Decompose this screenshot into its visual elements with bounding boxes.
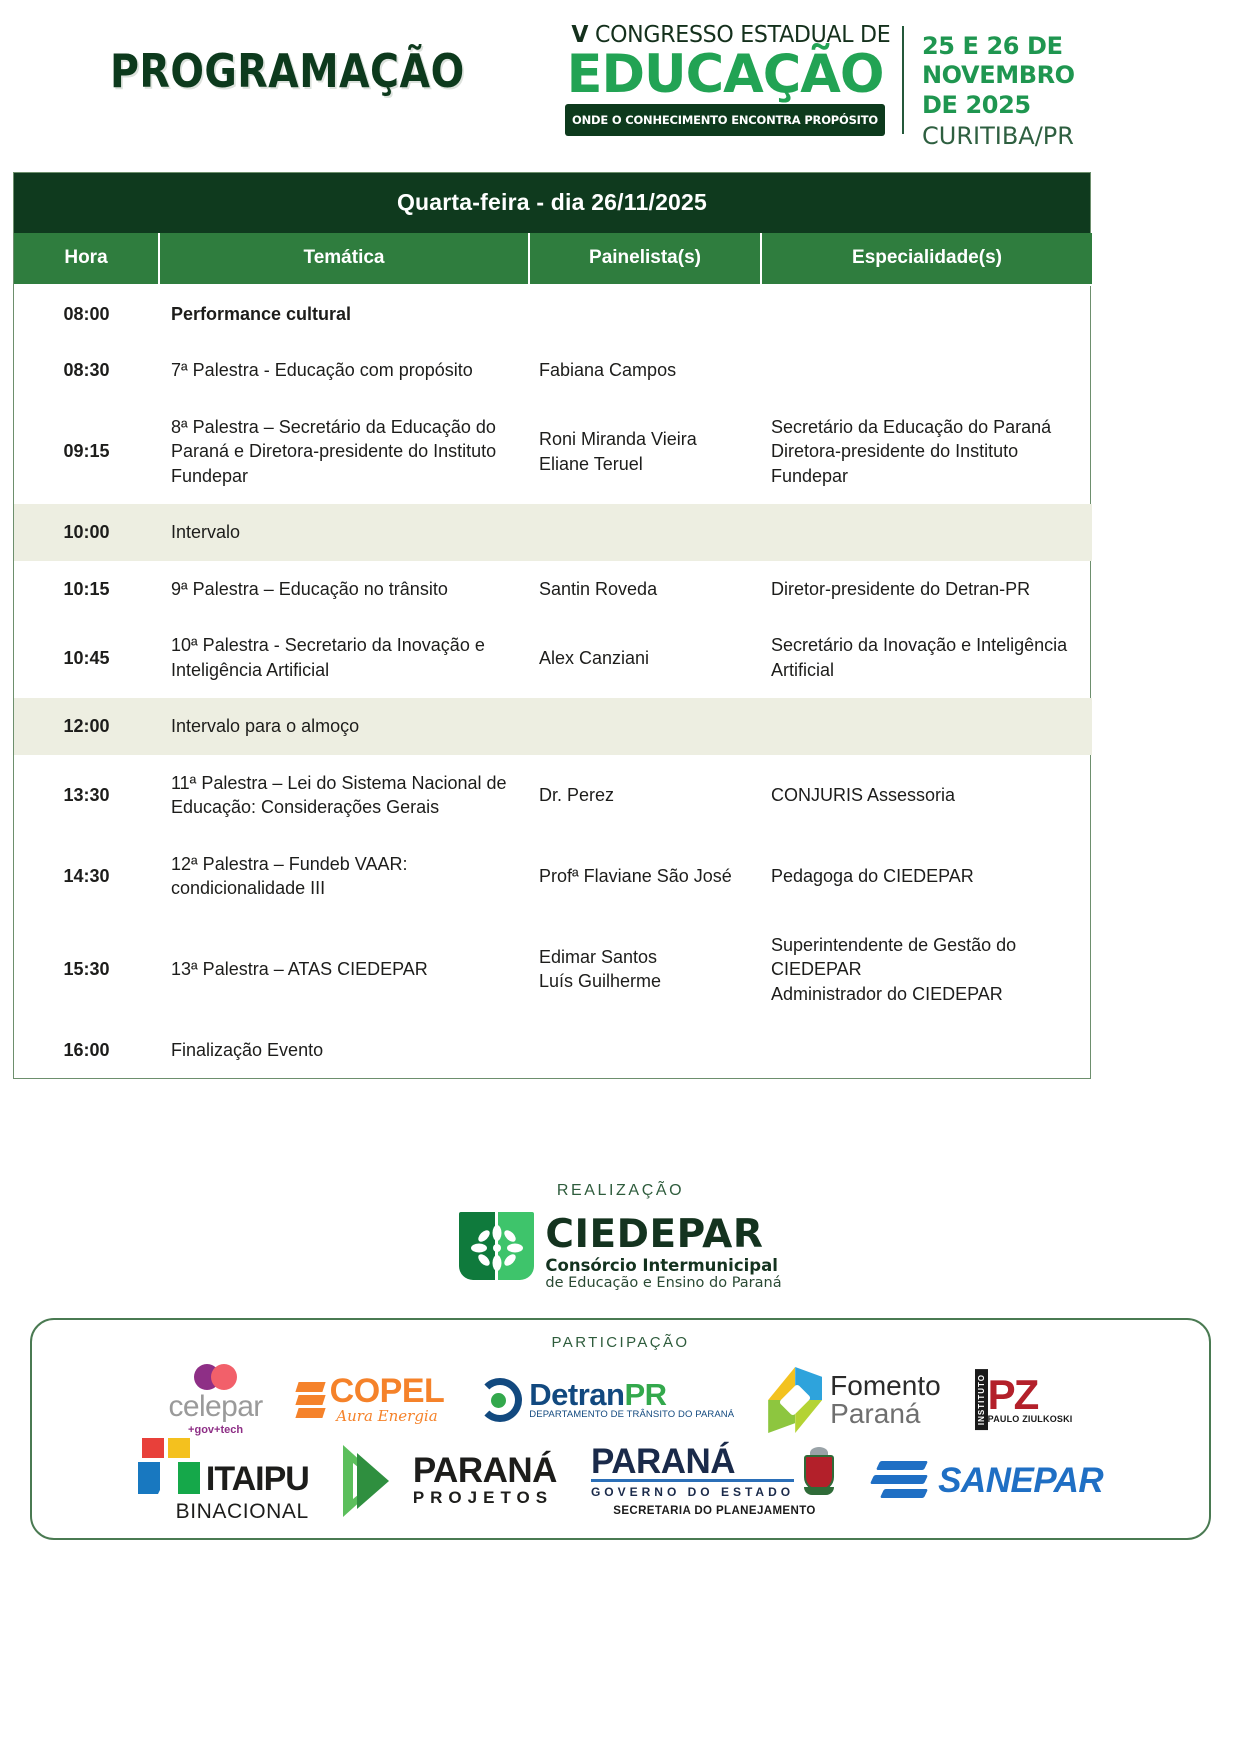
cell-hora-line: 10:15: [24, 577, 149, 601]
cell-hora-line: 15:30: [24, 957, 149, 981]
cell-hora: 08:30: [14, 342, 159, 398]
cell-tematica-line: Performance cultural: [171, 302, 519, 326]
copel-tagline: Aura Energia: [330, 1407, 445, 1425]
itaipu-wordmark: ITAIPU: [206, 1465, 309, 1494]
cell-especialidades-line: Superintendente de Gestão do CIEDEPAR: [771, 933, 1082, 982]
sponsor-logo-detran-pr: DetranPR DEPARTAMENTO DE TRÂNSITO DO PAR…: [478, 1378, 734, 1422]
fomento-wordmark2: Paraná: [830, 1400, 941, 1428]
cell-painelistas-line: Roni Miranda Vieira: [539, 427, 751, 451]
cell-hora-line: 10:00: [24, 520, 149, 544]
table-row: 09:158ª Palestra – Secretário da Educaçã…: [14, 399, 1092, 504]
cell-tematica: Intervalo para o almoço: [159, 698, 529, 754]
cell-tematica-line: 9ª Palestra – Educação no trânsito: [171, 577, 519, 601]
realizacao-label: REALIZAÇÃO: [0, 1182, 1241, 1200]
cell-especialidades: [761, 285, 1092, 342]
cell-especialidades-line: Diretor-presidente do Detran-PR: [771, 577, 1082, 601]
cell-tematica-line: Intervalo: [171, 520, 519, 544]
sanepar-wordmark: SANEPAR: [938, 1461, 1103, 1501]
ciedepar-sub2: de Educação e Ensino do Paraná: [545, 1275, 781, 1291]
detran-wordmark: Detran: [529, 1377, 624, 1412]
sponsor-logo-itaipu-binacional: ITAIPU BINACIONAL: [138, 1438, 309, 1524]
cell-painelistas: [529, 1022, 761, 1078]
cell-tematica: 10ª Palestra - Secretario da Inovação e …: [159, 617, 529, 698]
table-row: 08:00Performance cultural: [14, 285, 1092, 342]
schedule-header-row: Hora Temática Painelista(s) Especialidad…: [14, 233, 1092, 285]
book-rosette-icon: [459, 1212, 535, 1286]
cell-especialidades: [761, 504, 1092, 560]
cell-hora-line: 16:00: [24, 1038, 149, 1062]
cell-tematica: 11ª Palestra – Lei do Sistema Nacional d…: [159, 755, 529, 836]
event-date-line2: NOVEMBRO: [922, 61, 1075, 90]
cell-painelistas: Roni Miranda VieiraEliane Teruel: [529, 399, 761, 504]
cell-tematica: 7ª Palestra - Educação com propósito: [159, 342, 529, 398]
cell-hora: 09:15: [14, 399, 159, 504]
cell-hora-line: 10:45: [24, 646, 149, 670]
cell-tematica: 9ª Palestra – Educação no trânsito: [159, 561, 529, 617]
cell-painelistas-line: Dr. Perez: [539, 783, 751, 807]
cell-hora-line: 13:30: [24, 783, 149, 807]
cell-especialidades: Secretário da Inovação e Inteligência Ar…: [761, 617, 1092, 698]
cell-tematica: Performance cultural: [159, 285, 529, 342]
cell-tematica-line: 13ª Palestra – ATAS CIEDEPAR: [171, 957, 519, 981]
cell-painelistas: Profª Flaviane São José: [529, 836, 761, 917]
cell-painelistas: Fabiana Campos: [529, 342, 761, 398]
cell-hora: 10:00: [14, 504, 159, 560]
pz-vertical-label: INSTITUTO: [975, 1369, 988, 1430]
cell-tematica: Intervalo: [159, 504, 529, 560]
cell-painelistas-line: Fabiana Campos: [539, 358, 751, 382]
event-logo-word: EDUCAÇÃO: [567, 50, 884, 100]
cell-especialidades-line: Diretora-presidente do Instituto Fundepa…: [771, 439, 1082, 488]
programacao-page: PROGRAMAÇÃO V CONGRESSO ESTADUAL DE EDUC…: [0, 0, 1241, 1755]
table-row: 16:00Finalização Evento: [14, 1022, 1092, 1078]
cell-hora: 10:45: [14, 617, 159, 698]
sponsor-logo-row-1: celepar +gov+tech COPEL Aura Energia Det…: [32, 1361, 1209, 1439]
cell-painelistas: Alex Canziani: [529, 617, 761, 698]
schedule-table: Hora Temática Painelista(s) Especialidad…: [14, 233, 1092, 1078]
cell-especialidades-line: Pedagoga do CIEDEPAR: [771, 864, 1082, 888]
ciedepar-name: CIEDEPAR: [545, 1216, 781, 1253]
ciedepar-logo: CIEDEPAR Consórcio Intermunicipal de Edu…: [0, 1212, 1241, 1291]
cell-hora-line: 08:00: [24, 302, 149, 326]
table-row: 10:159ª Palestra – Educação no trânsitoS…: [14, 561, 1092, 617]
cell-especialidades-line: Secretário da Inovação e Inteligência Ar…: [771, 633, 1082, 682]
cell-especialidades-line: Administrador do CIEDEPAR: [771, 982, 1082, 1006]
table-row: 10:00Intervalo: [14, 504, 1092, 560]
cell-tematica-line: 12ª Palestra – Fundeb VAAR: condicionali…: [171, 852, 519, 901]
detran-tagline: DEPARTAMENTO DE TRÂNSITO DO PARANÁ: [529, 1409, 734, 1420]
cell-tematica-line: Finalização Evento: [171, 1038, 519, 1062]
governo-tagline2: SECRETARIA DO PLANEJAMENTO: [613, 1505, 816, 1517]
table-row: 12:00Intervalo para o almoço: [14, 698, 1092, 754]
parana-projetos-tagline: PROJETOS: [413, 1488, 557, 1508]
celepar-dots-icon: [194, 1364, 237, 1390]
sponsor-logo-sanepar: SANEPAR: [872, 1457, 1103, 1505]
cell-painelistas-line: Alex Canziani: [539, 646, 751, 670]
cell-especialidades: Diretor-presidente do Detran-PR: [761, 561, 1092, 617]
itaipu-tagline: BINACIONAL: [176, 1500, 309, 1524]
column-header-tematica: Temática: [159, 233, 529, 285]
cell-especialidades: CONJURIS Assessoria: [761, 755, 1092, 836]
fomento-wordmark: Fomento: [830, 1372, 941, 1400]
event-tagline: ONDE O CONHECIMENTO ENCONTRA PROPÓSITO: [565, 104, 885, 136]
copel-mark-icon: [297, 1382, 324, 1418]
cell-especialidades-line: Secretário da Educação do Paraná: [771, 415, 1082, 439]
cell-hora-line: 09:15: [24, 439, 149, 463]
ciedepar-sub1: Consórcio Intermunicipal: [545, 1256, 781, 1275]
schedule-table-container: Quarta-feira - dia 26/11/2025 Hora Temát…: [13, 172, 1091, 1079]
itaipu-mark-icon: [138, 1438, 200, 1494]
sponsor-logo-copel: COPEL Aura Energia: [297, 1375, 445, 1425]
copel-wordmark: COPEL: [330, 1375, 445, 1407]
cell-especialidades-line: CONJURIS Assessoria: [771, 783, 1082, 807]
table-row: 10:4510ª Palestra - Secretario da Inovaç…: [14, 617, 1092, 698]
pz-tagline: PAULO ZIULKOSKI: [988, 1414, 1073, 1424]
sanepar-wave-icon: [872, 1457, 932, 1505]
cell-tematica-line: Intervalo para o almoço: [171, 714, 519, 738]
cell-hora: 16:00: [14, 1022, 159, 1078]
cell-tematica-line: 8ª Palestra – Secretário da Educação do …: [171, 415, 519, 488]
cell-painelistas-line: Eliane Teruel: [539, 452, 751, 476]
cell-tematica-line: 11ª Palestra – Lei do Sistema Nacional d…: [171, 771, 519, 820]
detran-ring-icon: [478, 1378, 522, 1422]
participacao-label: PARTICIPAÇÃO: [32, 1334, 1209, 1351]
cell-hora-line: 08:30: [24, 358, 149, 382]
cell-tematica: 12ª Palestra – Fundeb VAAR: condicionali…: [159, 836, 529, 917]
column-header-especialidades: Especialidade(s): [761, 233, 1092, 285]
cell-tematica: 8ª Palestra – Secretário da Educação do …: [159, 399, 529, 504]
schedule-day-banner: Quarta-feira - dia 26/11/2025: [14, 173, 1090, 233]
cell-tematica: 13ª Palestra – ATAS CIEDEPAR: [159, 917, 529, 1022]
sponsor-logo-instituto-pz: INSTITUTO PZ PAULO ZIULKOSKI: [975, 1369, 1073, 1430]
column-header-painelistas: Painelista(s): [529, 233, 761, 285]
cell-hora: 12:00: [14, 698, 159, 754]
parana-projetos-wordmark: PARANÁ: [413, 1454, 557, 1487]
participacao-panel: PARTICIPAÇÃO celepar +gov+tech COPEL Aur…: [30, 1318, 1211, 1540]
cell-painelistas: [529, 504, 761, 560]
cell-hora: 13:30: [14, 755, 159, 836]
event-date-line1: 25 E 26 DE: [922, 32, 1075, 61]
cell-hora: 15:30: [14, 917, 159, 1022]
cell-painelistas: [529, 285, 761, 342]
cell-hora-line: 12:00: [24, 714, 149, 738]
table-row: 13:3011ª Palestra – Lei do Sistema Nacio…: [14, 755, 1092, 836]
table-row: 08:307ª Palestra - Educação com propósit…: [14, 342, 1092, 398]
cell-painelistas: Edimar SantosLuís Guilherme: [529, 917, 761, 1022]
fomento-cube-icon: [768, 1367, 822, 1433]
cell-hora: 08:00: [14, 285, 159, 342]
event-city: CURITIBA/PR: [922, 122, 1075, 151]
parana-projetos-arrow-icon: [343, 1445, 403, 1517]
cell-especialidades: Secretário da Educação do ParanáDiretora…: [761, 399, 1092, 504]
cell-painelistas: Santin Roveda: [529, 561, 761, 617]
cell-especialidades: Superintendente de Gestão do CIEDEPARAdm…: [761, 917, 1092, 1022]
cell-hora: 14:30: [14, 836, 159, 917]
cell-painelistas: Dr. Perez: [529, 755, 761, 836]
sponsor-logo-celepar: celepar +gov+tech: [168, 1364, 262, 1436]
cell-tematica-line: 7ª Palestra - Educação com propósito: [171, 358, 519, 382]
cell-especialidades: [761, 1022, 1092, 1078]
sponsor-logo-governo-parana: PARANÁ GOVERNO DO ESTADO SECRETARIA DO P…: [591, 1445, 838, 1517]
parana-coat-of-arms-icon: [800, 1447, 838, 1497]
sponsor-logo-parana-projetos: PARANÁ PROJETOS: [343, 1445, 557, 1517]
sponsor-logo-row-2: ITAIPU BINACIONAL PARANÁ PROJETOS PARANÁ: [32, 1441, 1209, 1521]
celepar-tagline: +gov+tech: [188, 1424, 243, 1436]
cell-especialidades: Pedagoga do CIEDEPAR: [761, 836, 1092, 917]
cell-painelistas-line: Santin Roveda: [539, 577, 751, 601]
header-divider: [902, 26, 904, 134]
governo-wordmark: PARANÁ: [591, 1445, 794, 1478]
pz-wordmark: PZ: [988, 1376, 1073, 1414]
detran-wordmark-pr: PR: [625, 1377, 667, 1412]
event-logo: V CONGRESSO ESTADUAL DE EDUCAÇÃO ONDE O …: [565, 22, 885, 136]
cell-hora-line: 14:30: [24, 864, 149, 888]
cell-painelistas-line: Luís Guilherme: [539, 969, 751, 993]
page-header: PROGRAMAÇÃO V CONGRESSO ESTADUAL DE EDUC…: [0, 0, 1241, 158]
event-date-block: 25 E 26 DE NOVEMBRO DE 2025 CURITIBA/PR: [922, 32, 1075, 151]
celepar-wordmark: celepar: [168, 1392, 262, 1422]
column-header-hora: Hora: [14, 233, 159, 285]
page-title: PROGRAMAÇÃO: [110, 44, 465, 98]
cell-hora: 10:15: [14, 561, 159, 617]
schedule-table-head: Hora Temática Painelista(s) Especialidad…: [14, 233, 1092, 285]
event-date-line3: DE 2025: [922, 91, 1075, 120]
sponsor-logo-fomento-parana: Fomento Paraná: [768, 1367, 941, 1433]
cell-tematica: Finalização Evento: [159, 1022, 529, 1078]
ciedepar-wordmark: CIEDEPAR Consórcio Intermunicipal de Edu…: [545, 1212, 781, 1291]
table-row: 14:3012ª Palestra – Fundeb VAAR: condici…: [14, 836, 1092, 917]
schedule-table-body: 08:00Performance cultural08:307ª Palestr…: [14, 285, 1092, 1078]
governo-tagline: GOVERNO DO ESTADO: [591, 1485, 794, 1499]
cell-painelistas: [529, 698, 761, 754]
table-row: 15:3013ª Palestra – ATAS CIEDEPAREdimar …: [14, 917, 1092, 1022]
cell-especialidades: [761, 698, 1092, 754]
cell-tematica-line: 10ª Palestra - Secretario da Inovação e …: [171, 633, 519, 682]
cell-painelistas-line: Profª Flaviane São José: [539, 864, 751, 888]
cell-especialidades: [761, 342, 1092, 398]
cell-painelistas-line: Edimar Santos: [539, 945, 751, 969]
